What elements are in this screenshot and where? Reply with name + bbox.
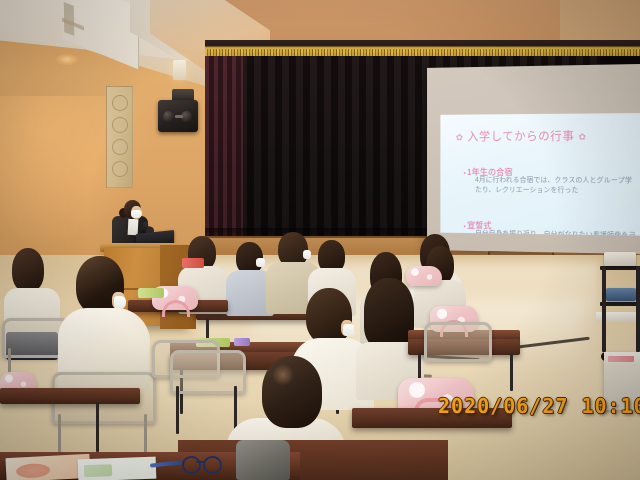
hair-highlight [272, 364, 294, 386]
paper-on-side-table [608, 356, 634, 362]
gray-shoulder-bag [236, 440, 290, 480]
slide-title-deco-right: ✿ [578, 132, 586, 142]
ceiling-downlight [56, 54, 78, 65]
slide-title: ✿ 入学してからの行事 ✿ [456, 128, 587, 145]
face-mask [256, 258, 265, 267]
face-mask [343, 324, 354, 336]
red-item [182, 258, 204, 268]
eyeglasses-icon [182, 456, 220, 471]
projected-slide: ✿ 入学してからの行事 ✿ 1年生の合宿 4月に行われる合宿では、クラスの人とグ… [440, 113, 640, 236]
notebook [138, 288, 164, 298]
decorative-wall-panel [106, 86, 133, 188]
chair [424, 322, 492, 362]
handout-paper [78, 457, 157, 480]
valance-gold-fringe [205, 49, 640, 56]
presenter-face-mask [131, 210, 142, 218]
slide-body-line: たり、レクリエーションを行った [475, 186, 632, 197]
stage-curtain-side [205, 55, 243, 255]
audience-head [364, 278, 414, 348]
table-row [0, 388, 140, 404]
slide-body-line: 自分自身を振り返り、自分がなりたい看護師像を己 [475, 229, 636, 235]
slide-bullet-body-1: 4月に行われる合宿では、クラスの人とグループ学 たり、レクリエーションを行った [475, 176, 632, 197]
photograph: ✿ 入学してからの行事 ✿ 1年生の合宿 4月に行われる合宿では、クラスの人とグ… [0, 0, 640, 480]
wall-speaker-icon [158, 100, 198, 132]
wall-sconce-light [173, 60, 186, 80]
slide-title-text: 入学してからの行事 [467, 131, 574, 143]
projection-screen: ✿ 入学してからの行事 ✿ 1年生の合宿 4月に行われる合宿では、クラスの人とグ… [427, 64, 640, 254]
slide-title-deco-left: ✿ [456, 132, 464, 142]
stationery-item [234, 338, 250, 346]
slide-bullet-body-2: 自分自身を振り返り、自分がなりたい看護師像を己 描くことができた [475, 229, 636, 235]
foreground-student-head [262, 356, 322, 428]
student-bag [406, 266, 442, 286]
av-device [606, 288, 636, 301]
audience-head [12, 248, 44, 292]
face-mask [303, 250, 311, 259]
camera-timestamp: 2020/06/27 10:10 [438, 394, 640, 418]
presenter-shirt [128, 219, 139, 236]
projector-unit [604, 252, 636, 266]
av-equipment-cart [600, 258, 640, 362]
